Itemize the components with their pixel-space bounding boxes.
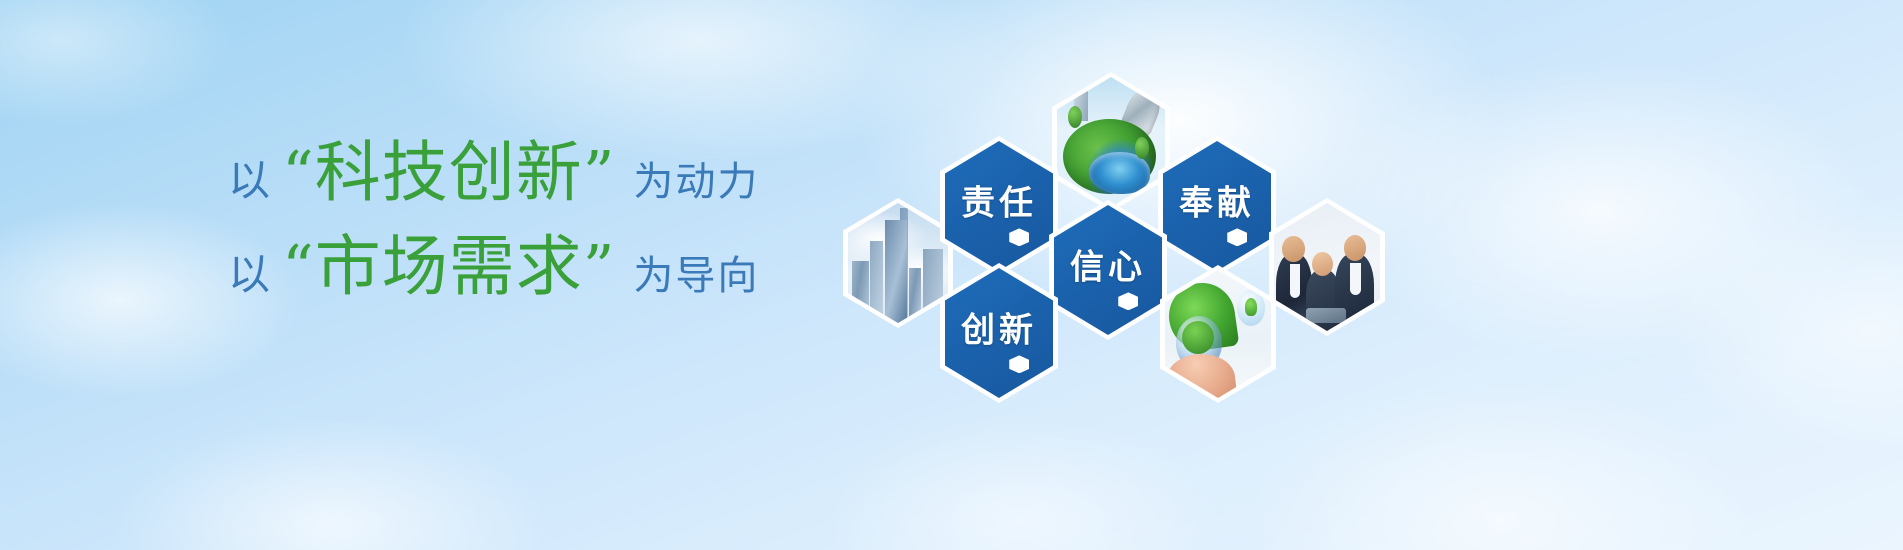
shirt-shape: [1350, 263, 1361, 295]
person-head: [1282, 236, 1304, 262]
hexagon-cluster: 责任 奉献 信心 创新: [0, 0, 1903, 550]
hexagon-fill: 创新: [945, 268, 1053, 398]
green-plant-hands-image: [1165, 270, 1271, 398]
hexagon-label-zeren: 责任: [945, 176, 1053, 225]
person-head: [1344, 235, 1366, 261]
accent-hexagon-icon: [1009, 228, 1029, 246]
business-team-image: [1274, 203, 1380, 331]
hexagon-label-xinxin: 信心: [1054, 240, 1162, 289]
hexagon-team-photo: [1269, 198, 1385, 336]
hexagon-eco-photo: [1052, 72, 1170, 212]
laptop-icon: [1306, 308, 1346, 323]
accent-hexagon-icon: [1227, 228, 1247, 246]
hexagon-plant-photo: [1160, 265, 1276, 403]
hexagon-fill: 责任: [945, 141, 1053, 271]
hexagon-value-fengxian[interactable]: 奉献: [1158, 136, 1276, 276]
hexagon-city-photo: [843, 198, 953, 328]
hexagon-label-chuangxin: 创新: [945, 303, 1053, 352]
tree-shape: [1135, 137, 1149, 159]
sprout-shape: [1245, 298, 1258, 316]
building-shape: [870, 241, 883, 323]
accent-hexagon-icon: [1118, 292, 1138, 310]
hexagon-fill: 奉献: [1163, 141, 1271, 271]
hero-banner: 以 “科技创新” 为动力 以 “市场需求” 为导向: [0, 0, 1903, 550]
green-earth-bulb-image: [1057, 77, 1165, 207]
hand-shape: [1165, 351, 1237, 398]
tree-inside-sphere: [1182, 321, 1214, 354]
tree-shape: [1068, 106, 1082, 128]
hexagon-value-chuangxin[interactable]: 创新: [940, 263, 1058, 403]
building-shape: [909, 268, 921, 323]
building-shape: [885, 220, 907, 323]
accent-hexagon-icon: [1009, 355, 1029, 373]
shirt-shape: [1290, 264, 1301, 297]
city-skyline-image: [848, 203, 948, 323]
hexagon-label-fengxian: 奉献: [1163, 176, 1271, 225]
hexagon-value-xinxin[interactable]: 信心: [1049, 200, 1167, 340]
hexagon-fill: 信心: [1054, 205, 1162, 335]
hexagon-value-zeren[interactable]: 责任: [940, 136, 1058, 276]
building-shape: [852, 261, 869, 323]
